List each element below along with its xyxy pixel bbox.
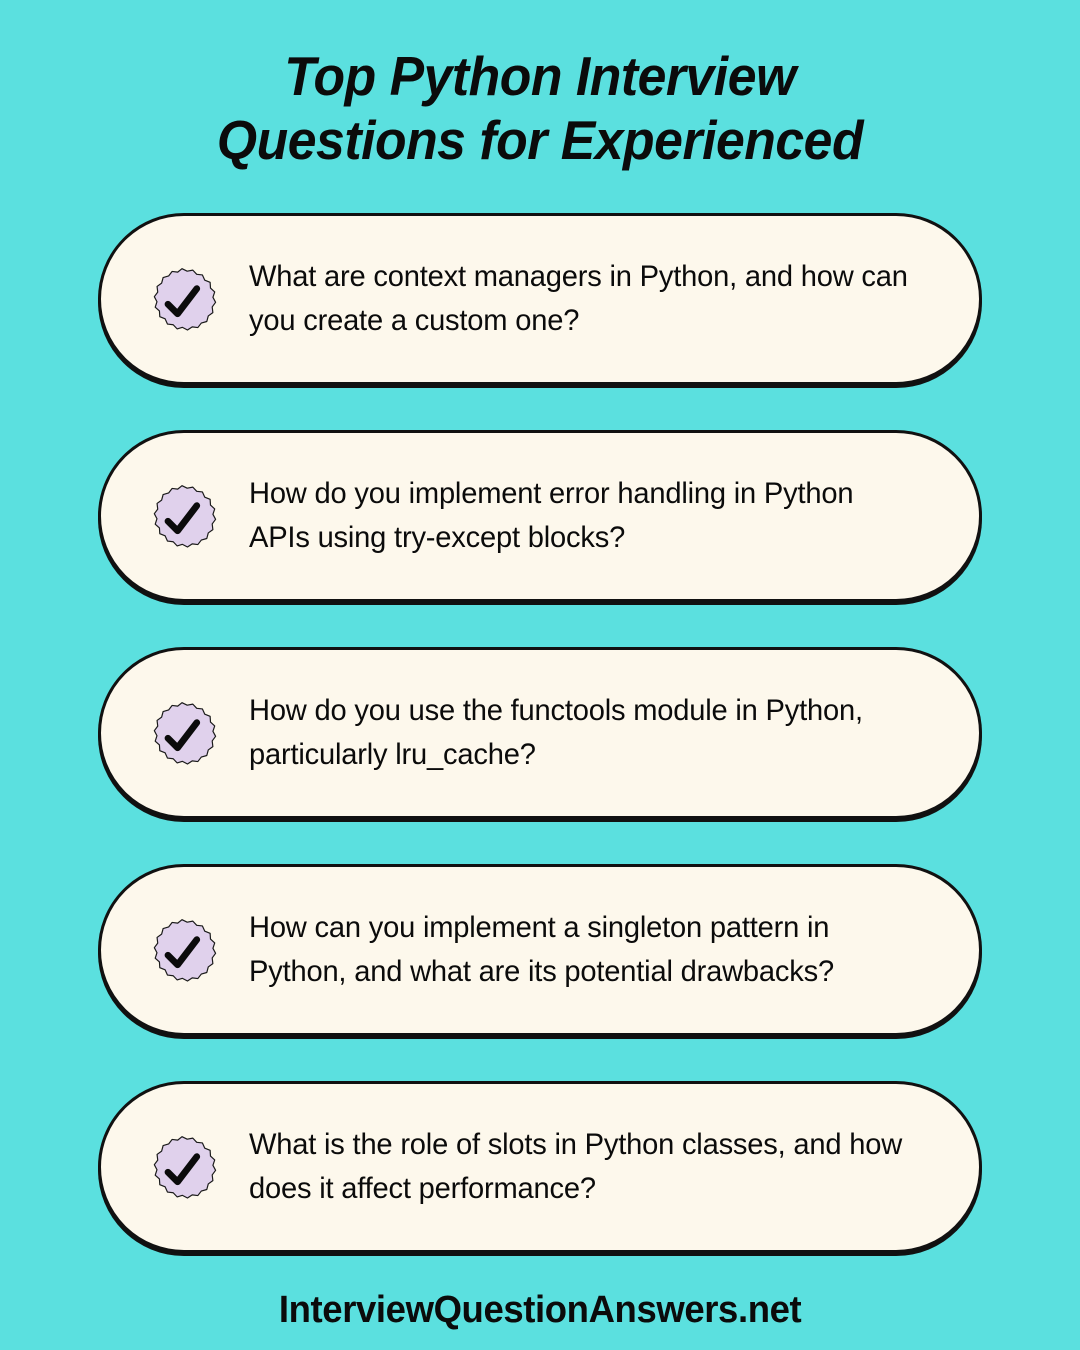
- check-badge-icon: [145, 1130, 219, 1204]
- check-badge-icon: [145, 262, 219, 336]
- check-badge-icon: [145, 479, 219, 553]
- question-card[interactable]: How can you implement a singleton patter…: [98, 864, 982, 1036]
- question-card-list: What are context managers in Python, and…: [98, 213, 982, 1253]
- check-badge-icon: [145, 913, 219, 987]
- title-line-2: Questions for Experienced: [126, 108, 953, 172]
- question-text: How can you implement a singleton patter…: [249, 906, 918, 994]
- question-card[interactable]: How do you use the functools module in P…: [98, 647, 982, 819]
- question-card[interactable]: What are context managers in Python, and…: [98, 213, 982, 385]
- question-text: What are context managers in Python, and…: [249, 255, 918, 343]
- poster-root: Top Python Interview Questions for Exper…: [0, 0, 1080, 1350]
- question-text: What is the role of slots in Python clas…: [249, 1123, 918, 1211]
- check-badge-icon: [145, 696, 219, 770]
- question-text: How do you implement error handling in P…: [249, 472, 918, 560]
- title-heading: Top Python Interview Questions for Exper…: [126, 44, 953, 173]
- question-card[interactable]: What is the role of slots in Python clas…: [98, 1081, 982, 1253]
- footer-website[interactable]: InterviewQuestionAnswers.net: [279, 1289, 801, 1332]
- question-card[interactable]: How do you implement error handling in P…: [98, 430, 982, 602]
- question-text: How do you use the functools module in P…: [249, 689, 918, 777]
- page-title: Top Python Interview Questions for Exper…: [100, 44, 980, 173]
- title-line-1: Top Python Interview: [126, 44, 953, 108]
